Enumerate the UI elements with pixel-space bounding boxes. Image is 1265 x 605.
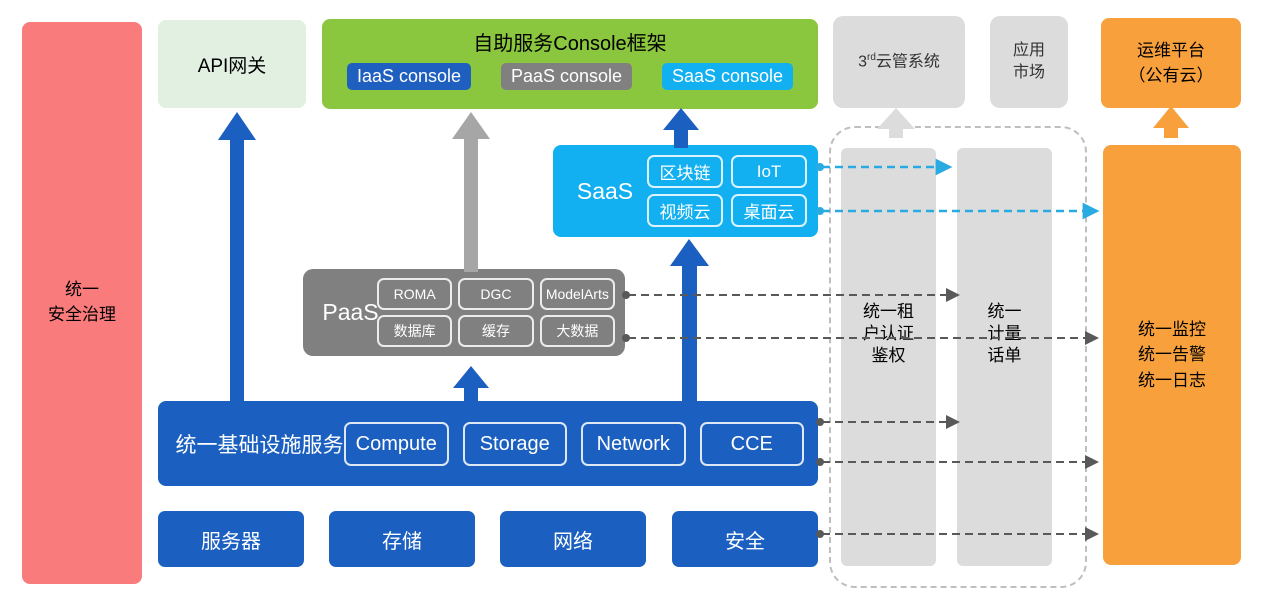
- security-line-2: 安全治理: [48, 303, 116, 328]
- infrastructure-layer-title: 统一基础设施服务: [172, 401, 347, 486]
- paas-item-cache[interactable]: 缓存: [458, 315, 533, 347]
- arrow-saas-to-console: [663, 108, 699, 148]
- hardware-label-server: 服务器: [201, 525, 261, 554]
- infra-item-compute[interactable]: Compute: [344, 422, 449, 466]
- arrow-infra-to-api-gateway: [218, 112, 256, 405]
- saas-layer-panel: SaaS 区块链 IoT 视频云 桌面云: [553, 145, 818, 237]
- app-market-box[interactable]: 应用 市场: [990, 16, 1068, 108]
- hardware-box-network[interactable]: 网络: [500, 511, 646, 567]
- infra-item-cce[interactable]: CCE: [700, 422, 805, 466]
- hardware-label-security: 安全: [725, 525, 765, 554]
- third-party-cloud-mgmt-box[interactable]: 3rd云管系统: [833, 16, 965, 108]
- hardware-box-storage[interactable]: 存储: [329, 511, 475, 567]
- tenant-auth-column[interactable]: 统一租 户认证 鉴权: [841, 148, 936, 566]
- infra-item-network[interactable]: Network: [581, 422, 686, 466]
- security-line-1: 统一: [48, 278, 116, 303]
- hardware-label-network: 网络: [553, 525, 593, 554]
- metering-billing-label: 统一 计量 话单: [957, 301, 1052, 367]
- paas-item-roma[interactable]: ROMA: [377, 278, 452, 310]
- ops-monitoring-column[interactable]: 统一监控 统一告警 统一日志: [1103, 145, 1241, 565]
- api-gateway-label: API网关: [198, 51, 267, 78]
- arrow-infra-to-paas: [453, 366, 489, 403]
- tenant-auth-label: 统一租 户认证 鉴权: [841, 301, 936, 367]
- arrow-infra-to-saas: [670, 239, 709, 405]
- paas-console-chip[interactable]: PaaS console: [501, 63, 632, 90]
- saas-item-video-cloud[interactable]: 视频云: [647, 194, 723, 227]
- paas-item-database[interactable]: 数据库: [377, 315, 452, 347]
- ops-platform-line-2: （公有云）: [1129, 63, 1214, 89]
- ops-platform-header-box[interactable]: 运维平台 （公有云）: [1101, 18, 1241, 108]
- paas-item-bigdata[interactable]: 大数据: [540, 315, 615, 347]
- security-governance-panel: 统一 安全治理: [22, 22, 142, 584]
- saas-console-chip[interactable]: SaaS console: [662, 63, 793, 90]
- hardware-box-server[interactable]: 服务器: [158, 511, 304, 567]
- ops-monitoring-label: 统一监控 统一告警 统一日志: [1138, 317, 1206, 394]
- app-market-label: 应用 市场: [1013, 40, 1045, 83]
- saas-layer-title: SaaS: [565, 145, 645, 237]
- security-governance-label: 统一 安全治理: [48, 278, 116, 327]
- arrow-to-ops-platform: [1153, 106, 1189, 138]
- saas-item-desktop-cloud[interactable]: 桌面云: [731, 194, 807, 227]
- third-party-cloud-label: 3rd云管系统: [858, 51, 940, 73]
- console-framework-title: 自助服务Console框架: [322, 19, 818, 63]
- infra-item-storage[interactable]: Storage: [463, 422, 568, 466]
- hardware-label-storage: 存储: [382, 525, 422, 554]
- metering-billing-column[interactable]: 统一 计量 话单: [957, 148, 1052, 566]
- app-market-line-1: 应用: [1013, 40, 1045, 62]
- hardware-box-security[interactable]: 安全: [672, 511, 818, 567]
- third-party-sup: rd: [867, 52, 876, 63]
- saas-item-blockchain[interactable]: 区块链: [647, 155, 723, 188]
- ops-platform-label: 运维平台 （公有云）: [1129, 38, 1214, 89]
- paas-layer-panel: PaaS ROMA DGC ModelArts 数据库 缓存 大数据: [303, 269, 625, 356]
- iaas-console-chip[interactable]: IaaS console: [347, 63, 471, 90]
- app-market-line-2: 市场: [1013, 62, 1045, 84]
- paas-item-modelarts[interactable]: ModelArts: [540, 278, 615, 310]
- ops-platform-line-1: 运维平台: [1129, 38, 1214, 64]
- api-gateway-box[interactable]: API网关: [158, 20, 306, 108]
- infrastructure-layer-panel: 统一基础设施服务 Compute Storage Network CCE: [158, 401, 818, 486]
- saas-item-iot[interactable]: IoT: [731, 155, 807, 188]
- arrow-paas-to-console: [452, 112, 490, 272]
- console-framework-panel: 自助服务Console框架 IaaS console PaaS console …: [322, 19, 818, 109]
- paas-item-dgc[interactable]: DGC: [458, 278, 533, 310]
